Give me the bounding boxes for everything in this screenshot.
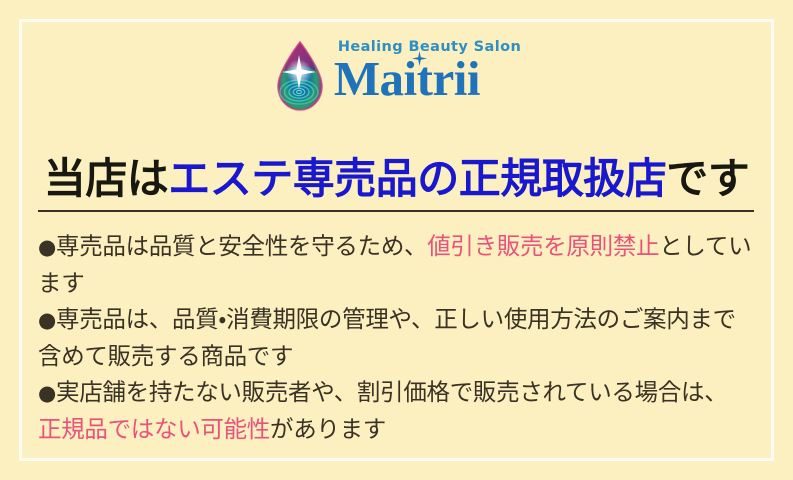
list-item-continuation: 含めて販売する商品です xyxy=(38,338,764,374)
notice-3-accent: 正規品ではない可能性 xyxy=(38,415,270,443)
brand-logo: Healing Beauty Salon Maitrii xyxy=(0,38,793,112)
notice-1-accent: 値引き販売を原則禁止 xyxy=(427,232,659,260)
list-item: ●専売品は品質と安全性を守るため、値引き販売を原則禁止としてい xyxy=(38,228,764,265)
headline-divider xyxy=(38,210,754,212)
notice-1-text-a: 専売品は品質と安全性を守るため、 xyxy=(56,232,427,260)
notice-3-line-2-b: があります xyxy=(270,415,386,443)
promotional-banner: Healing Beauty Salon Maitrii 当店はエステ専売品の正… xyxy=(0,0,793,480)
list-item: ●専売品は、品質・消費期限の管理や、正しい使用方法のご案内まで xyxy=(38,301,764,338)
list-item-continuation: ます xyxy=(38,265,764,301)
list-item: ●実店舗を持たない販売者や、割引価格で販売されている場合は、 xyxy=(38,374,764,411)
bullet-icon: ● xyxy=(38,381,56,405)
headline-part-3: です xyxy=(666,154,749,203)
brand-wordmark: Maitrii xyxy=(334,51,480,106)
sparkle-icon xyxy=(412,51,427,66)
headline-part-1: 当店は xyxy=(44,154,169,203)
bullet-icon: ● xyxy=(38,308,56,332)
page-title: 当店はエステ専売品の正規取扱店です xyxy=(0,154,793,204)
brand-wordmark-row: Maitrii xyxy=(334,53,480,104)
list-item-continuation: 正規品ではない可能性があります xyxy=(38,411,764,447)
headline-part-2: エステ専売品の正規取扱店 xyxy=(168,154,666,203)
brand-logo-inner: Healing Beauty Salon Maitrii xyxy=(272,38,521,112)
notice-2-line-2: 含めて販売する商品です xyxy=(38,342,293,370)
notice-1-line-2: ます xyxy=(38,269,84,297)
notice-1-text-c: としてい xyxy=(659,232,751,260)
bullet-icon: ● xyxy=(38,235,56,259)
notice-list: ●専売品は品質と安全性を守るため、値引き販売を原則禁止としてい ます ●専売品は… xyxy=(38,228,764,447)
notice-3-line-1: 実店舗を持たない販売者や、割引価格で販売されている場合は、 xyxy=(56,378,727,406)
brand-logo-text: Healing Beauty Salon Maitrii xyxy=(334,38,521,104)
notice-2-line-1: 専売品は、品質・消費期限の管理や、正しい使用方法のご案内まで xyxy=(56,305,736,333)
maitrii-droplet-logo-icon xyxy=(272,40,328,112)
